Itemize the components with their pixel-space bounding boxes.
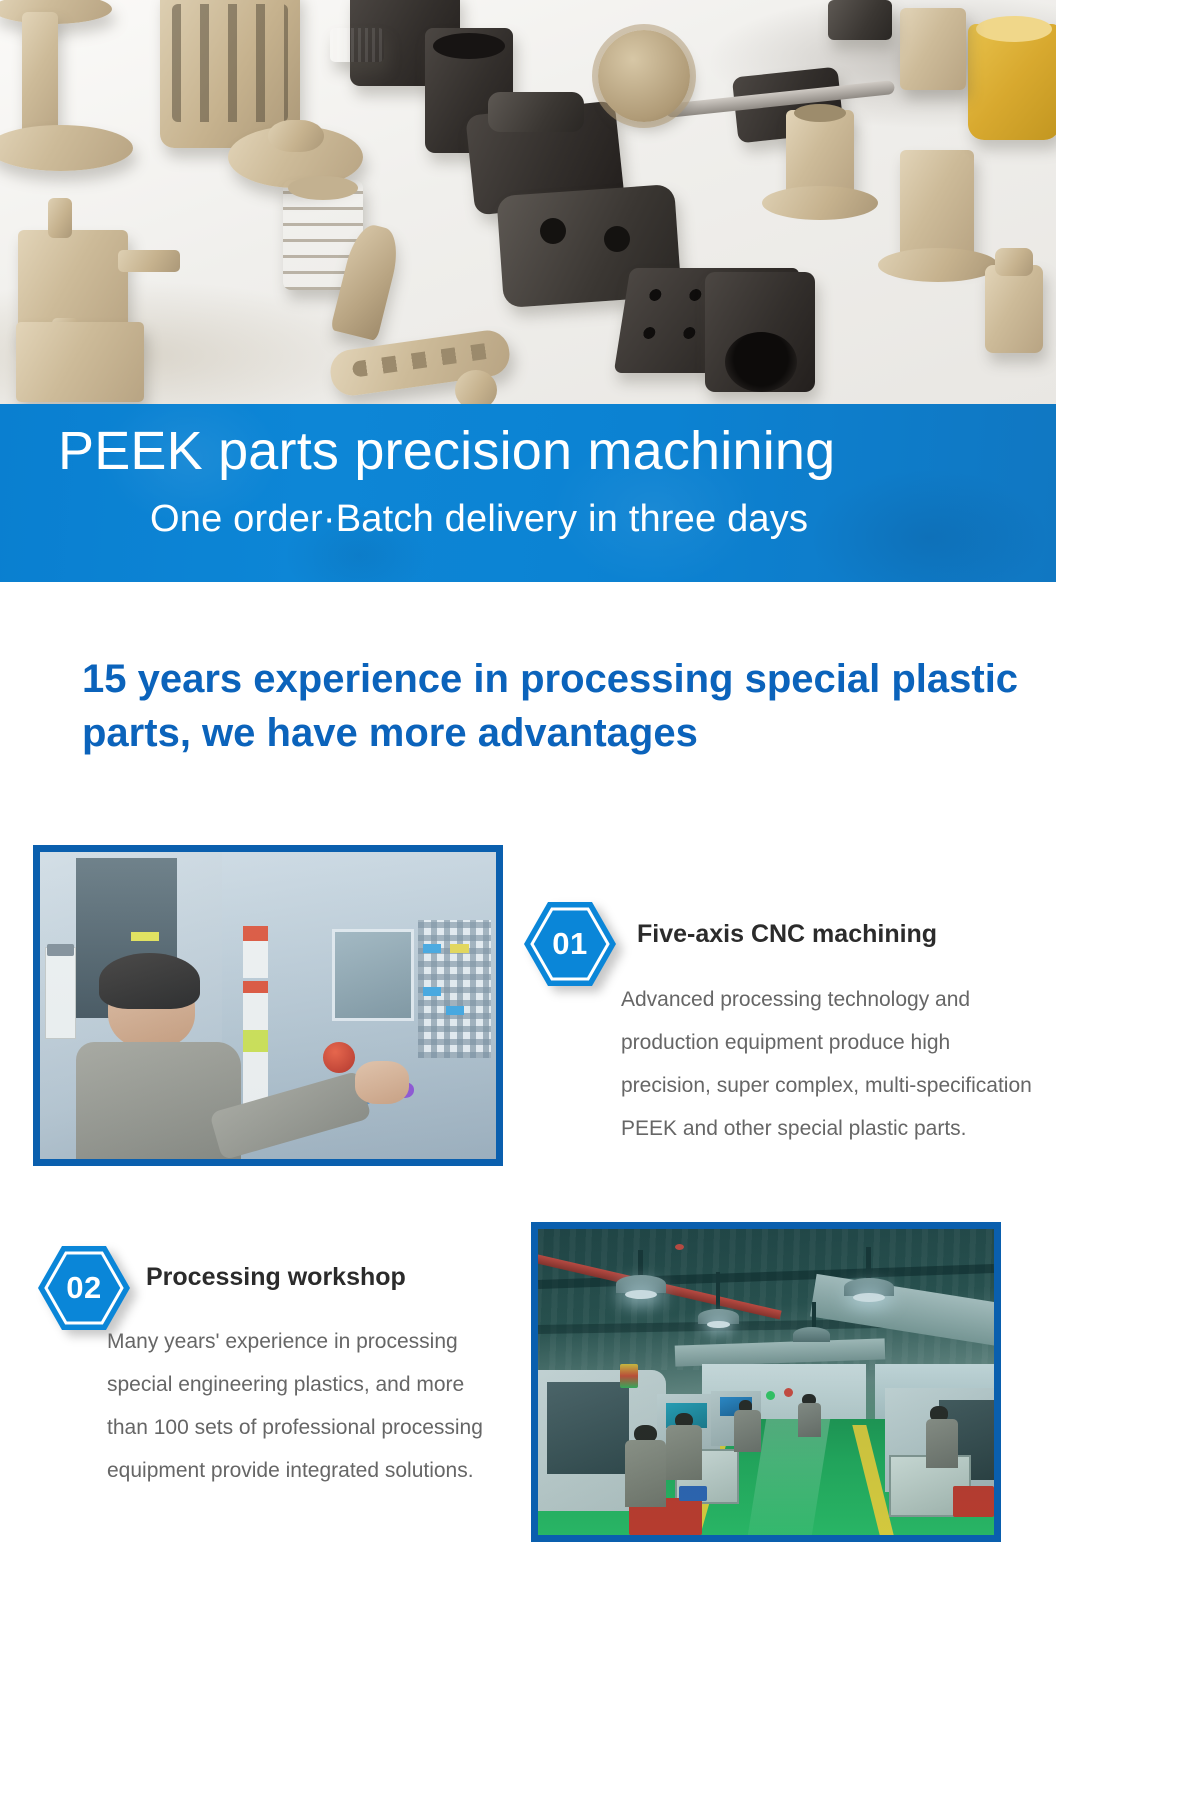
part-dark-flanged-sleeve — [828, 0, 892, 40]
part-dark-cup-bore — [725, 332, 797, 392]
section-heading: 15 years experience in processing specia… — [82, 653, 1032, 760]
part-flange-hub — [268, 120, 324, 152]
part-ribbed-cylinder-bore — [288, 176, 358, 200]
part-arm-boss — [455, 370, 497, 404]
part-stepped-spacer — [900, 150, 974, 260]
part-plate-hole-1 — [540, 218, 566, 244]
part-right-bushing — [900, 8, 966, 90]
part-gear — [598, 30, 690, 122]
feature-02-body: Many years' experience in processing spe… — [107, 1320, 507, 1492]
product-detail-page: PEEK parts precision machining One order… — [0, 0, 1200, 1796]
part-bushing-bore — [794, 104, 846, 122]
part-flanged-bushing — [786, 110, 854, 196]
hexagon-badge-icon: 02 — [36, 1244, 132, 1332]
part-cage-slots — [172, 4, 288, 122]
hero-banner: PEEK parts precision machining One order… — [0, 404, 1056, 582]
feature-01-photo-frame — [33, 845, 503, 1166]
cnc-operator-photo — [40, 852, 496, 1159]
part-manifold-port-a — [118, 250, 180, 272]
hero-parts-photo — [0, 0, 1056, 404]
hexagon-badge-icon: 01 — [522, 900, 618, 988]
feature-01-number: 01 — [522, 900, 618, 988]
part-manifold-neck — [48, 198, 72, 238]
feature-02-photo-frame — [531, 1222, 1001, 1542]
part-small-plug — [985, 265, 1043, 353]
part-small-plug-cap — [995, 248, 1033, 276]
workshop-photo — [538, 1229, 994, 1535]
part-amber-bore — [976, 16, 1052, 42]
feature-02-title: Processing workshop — [146, 1263, 406, 1292]
part-plate-hole-2 — [604, 226, 630, 252]
part-spool-shaft — [22, 12, 58, 142]
part-threaded-nipple — [330, 28, 384, 62]
part-dark-sleeve-bore — [433, 33, 505, 59]
part-bracket — [16, 322, 144, 402]
banner-subtitle: One order·Batch delivery in three days — [150, 498, 808, 541]
part-bushing-flange — [762, 186, 878, 220]
feature-02-badge: 02 — [36, 1244, 132, 1332]
feature-01-title: Five-axis CNC machining — [637, 920, 937, 949]
feature-01-body: Advanced processing technology and produ… — [621, 978, 1041, 1150]
feature-02-number: 02 — [36, 1244, 132, 1332]
banner-title: PEEK parts precision machining — [58, 420, 835, 482]
part-spacer-flange — [878, 248, 998, 282]
part-pump-top — [488, 92, 584, 132]
feature-01-badge: 01 — [522, 900, 618, 988]
